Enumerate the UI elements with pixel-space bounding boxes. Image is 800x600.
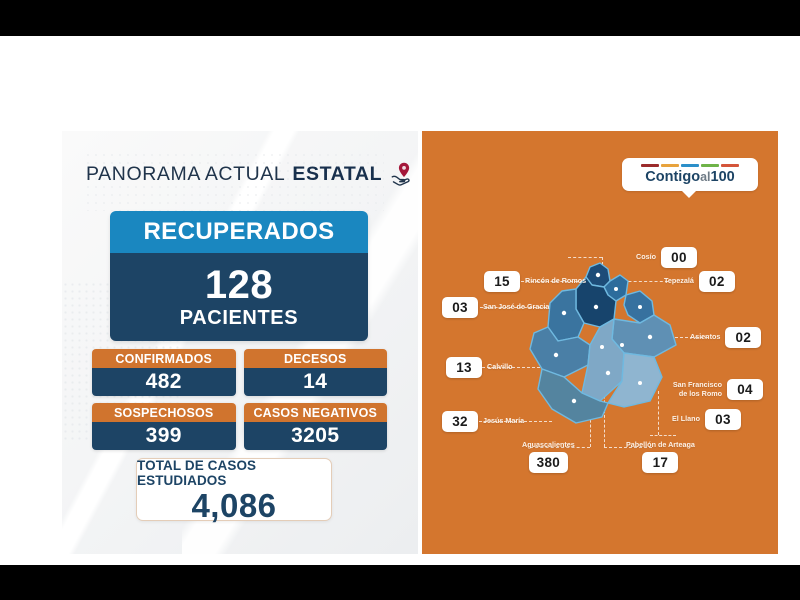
muni-san-jose-de-gracia: 03 San José de Gracia (442, 297, 549, 318)
stat-label: DECESOS (244, 349, 388, 368)
total-cases-label: TOTAL DE CASOS ESTUDIADOS (137, 458, 331, 488)
muni-name: San Francisco de los Romo (670, 381, 722, 398)
muni-jesus-maria: 32 Jesús María (442, 411, 524, 432)
muni-name: Rincón de Romos (525, 277, 586, 285)
stat-card-decesos: DECESOS 14 (244, 349, 388, 396)
map-panel: Contigoal100 (422, 131, 778, 554)
stats-grid: CONFIRMADOS 482 DECESOS 14 SOSPECHOSOS 3… (92, 349, 387, 450)
recovered-label: RECUPERADOS (110, 211, 368, 253)
stat-label: SOSPECHOSOS (92, 403, 236, 422)
total-cases-value: 4,086 (191, 489, 276, 522)
recovered-unit: PACIENTES (180, 307, 298, 330)
letterbox-bar-bottom (0, 565, 800, 600)
stat-label: CASOS NEGATIVOS (244, 403, 388, 422)
muni-name: Aguascalientes (522, 441, 575, 449)
muni-name: Jesús María (483, 417, 524, 425)
muni-pabellon-de-arteaga: Pabellón de Arteaga 17 (626, 441, 695, 473)
muni-name: El Llano (672, 415, 700, 423)
stat-card-casos-negativos: CASOS NEGATIVOS 3205 (244, 403, 388, 450)
muni-rincon-de-romos: 15 Rincón de Romos (484, 271, 586, 292)
muni-value: 32 (442, 411, 478, 432)
stat-value: 3205 (244, 422, 388, 450)
page-title: PANORAMA ACTUAL ESTATAL (86, 161, 404, 187)
muni-name: Calvillo (487, 363, 513, 371)
muni-name: Pabellón de Arteaga (626, 441, 695, 449)
infographic-page: PANORAMA ACTUAL ESTATAL RECUPERADOS 128 … (0, 36, 800, 565)
stat-value: 14 (244, 368, 388, 396)
muni-el-llano: El Llano 03 (672, 409, 741, 430)
stat-value: 399 (92, 422, 236, 450)
page-title-bold: ESTATAL (292, 163, 382, 186)
muni-asientos: Asientos 02 (690, 327, 761, 348)
muni-value: 03 (705, 409, 741, 430)
recovered-panel: RECUPERADOS 128 PACIENTES (110, 211, 368, 341)
muni-value: 13 (446, 357, 482, 378)
letterbox-bar-top (0, 0, 800, 36)
muni-cosio: Cosío 00 (636, 247, 697, 268)
recovered-body: 128 PACIENTES (110, 253, 368, 341)
muni-value: 02 (699, 271, 735, 292)
stat-value: 482 (92, 368, 236, 396)
stat-label: CONFIRMADOS (92, 349, 236, 368)
muni-value: 17 (642, 452, 678, 473)
muni-name: San José de Gracia (483, 303, 549, 311)
stat-card-sospechosos: SOSPECHOSOS 399 (92, 403, 236, 450)
screenshot-stage: PANORAMA ACTUAL ESTATAL RECUPERADOS 128 … (0, 0, 800, 600)
muni-san-francisco-de-los-romo: San Francisco de los Romo 04 (670, 379, 763, 400)
muni-name: Tepezalá (664, 277, 694, 285)
aguascalientes-map: Cosío 00 Tepezalá 02 Asientos 02 San Fra… (422, 131, 778, 554)
connector-line (568, 257, 602, 258)
muni-calvillo: 13 Calvillo (446, 357, 513, 378)
muni-name: Cosío (636, 253, 656, 261)
muni-value: 00 (661, 247, 697, 268)
page-title-light: PANORAMA ACTUAL (86, 163, 285, 186)
total-cases-box: TOTAL DE CASOS ESTUDIADOS 4,086 (136, 458, 332, 521)
muni-value: 03 (442, 297, 478, 318)
muni-value: 04 (727, 379, 763, 400)
left-stats-card: PANORAMA ACTUAL ESTATAL RECUPERADOS 128 … (62, 131, 418, 554)
muni-value: 02 (725, 327, 761, 348)
muni-value: 380 (529, 452, 568, 473)
muni-name: Asientos (690, 333, 720, 341)
muni-value: 15 (484, 271, 520, 292)
muni-tepezala: Tepezalá 02 (664, 271, 735, 292)
map-pin-in-hand-icon (389, 161, 415, 187)
stat-card-confirmados: CONFIRMADOS 482 (92, 349, 236, 396)
recovered-value: 128 (205, 266, 273, 304)
muni-aguascalientes: Aguascalientes 380 (522, 441, 575, 473)
